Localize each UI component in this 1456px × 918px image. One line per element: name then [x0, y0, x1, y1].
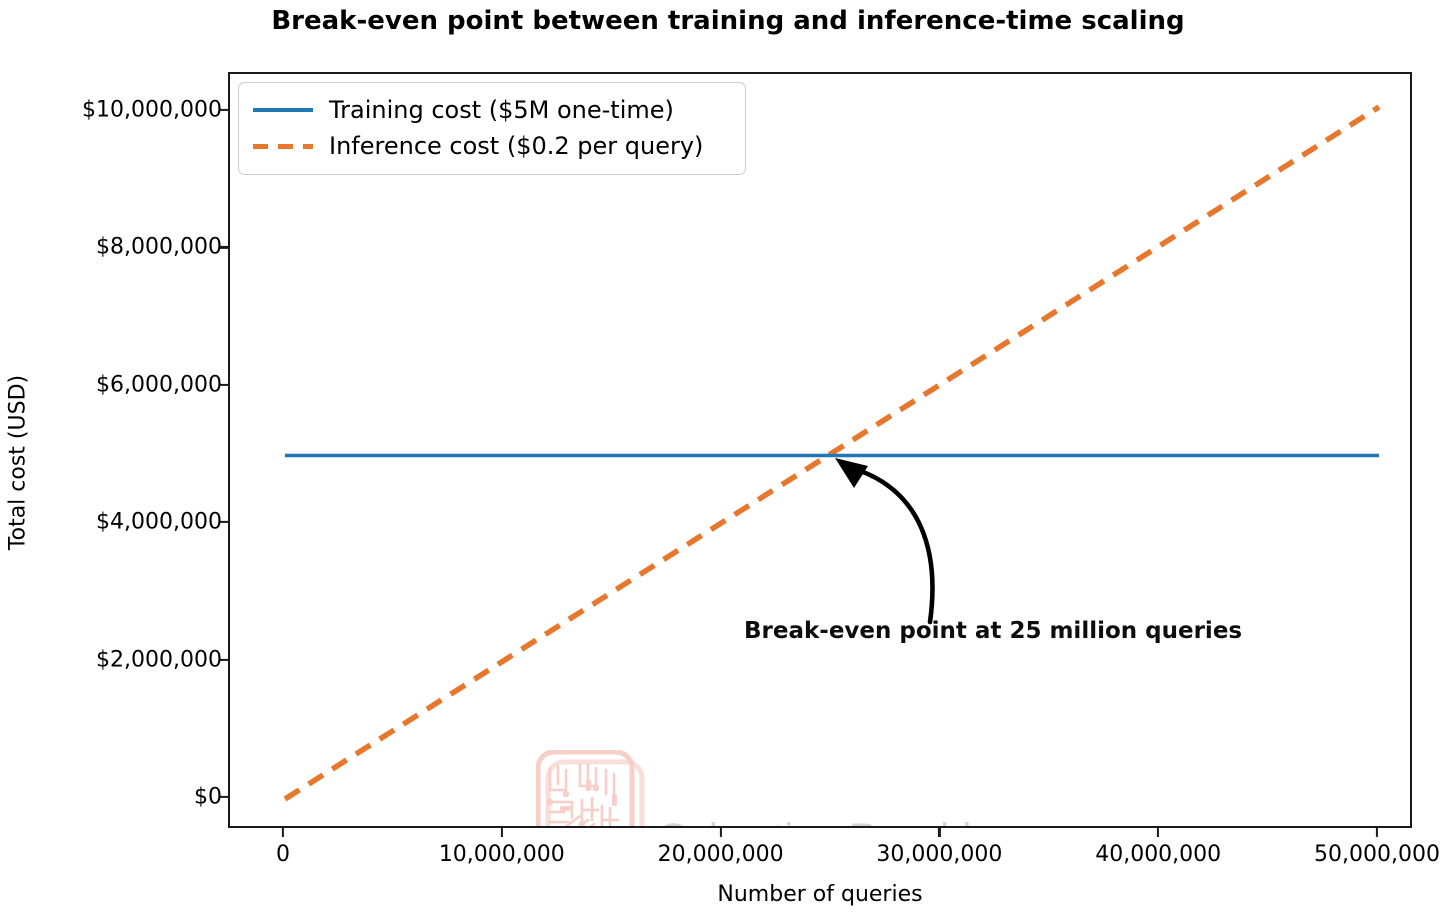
- x-tick-label-3: 30,000,000: [876, 842, 1002, 867]
- legend-entry-training[interactable]: Training cost ($5M one-time): [253, 92, 731, 128]
- annotation-text: Break-even point at 25 million queries: [744, 618, 1242, 644]
- y-tick-label-4: $8,000,000: [96, 235, 222, 260]
- x-tick-mark: [720, 827, 722, 837]
- x-tick-mark: [1376, 827, 1378, 837]
- chart-figure: Break-even point between training and in…: [0, 0, 1456, 918]
- x-tick-label-0: 0: [276, 842, 290, 867]
- x-tick-mark: [282, 827, 284, 837]
- legend-swatch-solid-line-icon: [253, 100, 313, 120]
- y-tick-label-5: $10,000,000: [82, 98, 222, 123]
- y-tick-label-3: $6,000,000: [96, 372, 222, 397]
- x-tick-label-5: 50,000,000: [1314, 842, 1440, 867]
- x-tick-mark: [1157, 827, 1159, 837]
- legend-label-inference: Inference cost ($0.2 per query): [329, 132, 703, 160]
- x-tick-mark: [938, 827, 940, 837]
- legend-swatch-dashed-line-icon: [253, 136, 313, 156]
- legend-label-training: Training cost ($5M one-time): [329, 96, 674, 124]
- x-tick-label-1: 10,000,000: [439, 842, 565, 867]
- y-tick-label-1: $2,000,000: [96, 647, 222, 672]
- y-tick-label-2: $4,000,000: [96, 510, 222, 535]
- x-tick-mark: [501, 827, 503, 837]
- x-axis-label: Number of queries: [228, 882, 1412, 907]
- chart-title: Break-even point between training and in…: [0, 6, 1456, 36]
- x-tick-label-4: 40,000,000: [1095, 842, 1221, 867]
- annotation-arrow-icon: [780, 430, 1000, 630]
- y-axis-label: Total cost (USD): [6, 303, 31, 623]
- y-tick-label-0: $0: [194, 785, 222, 810]
- x-tick-label-2: 20,000,000: [658, 842, 784, 867]
- legend-entry-inference[interactable]: Inference cost ($0.2 per query): [253, 128, 731, 164]
- chart-legend[interactable]: Training cost ($5M one-time) Inference c…: [238, 82, 746, 175]
